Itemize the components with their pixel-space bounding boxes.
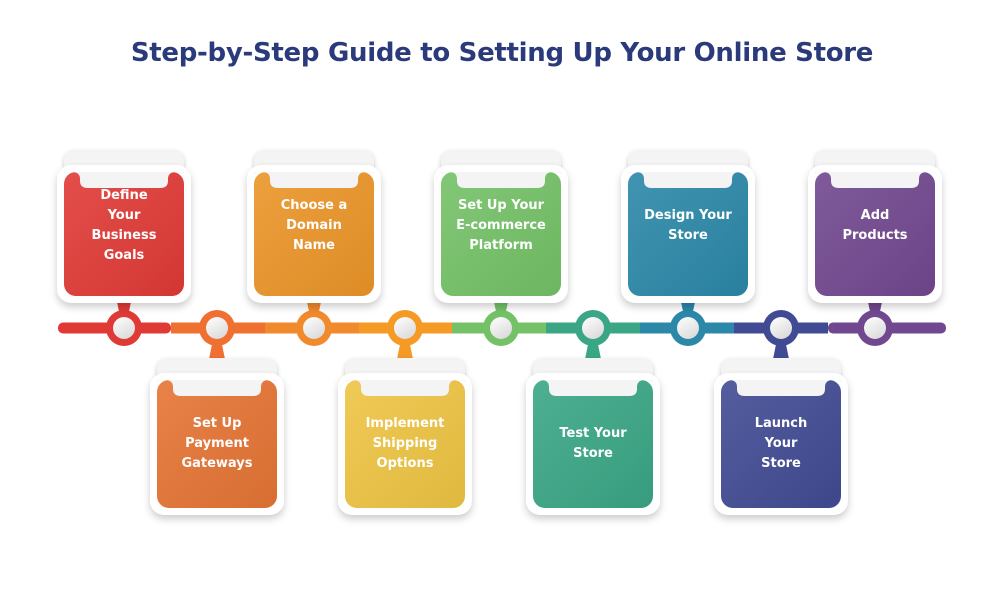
timeline-node-center[interactable] xyxy=(490,317,512,339)
step-card-label: Define Your Business Goals xyxy=(70,186,178,266)
timeline-node-ring[interactable] xyxy=(387,310,423,346)
timeline-node-center[interactable] xyxy=(864,317,886,339)
timeline-node-ring[interactable] xyxy=(763,310,799,346)
step-card-label: Design Your Store xyxy=(634,206,742,246)
timeline-segment xyxy=(265,323,359,334)
timeline-node-ring[interactable] xyxy=(670,310,706,346)
timeline-nodes xyxy=(106,310,893,346)
timeline-segment xyxy=(828,323,946,334)
timeline-node-center[interactable] xyxy=(770,317,792,339)
timeline-node-center[interactable] xyxy=(582,317,604,339)
timeline-segment xyxy=(640,323,734,334)
step-card-6[interactable]: 6Set Up Payment Gateways xyxy=(157,358,277,516)
timeline-node-ring[interactable] xyxy=(106,310,142,346)
timeline-segment xyxy=(452,323,546,334)
timeline-node-ring[interactable] xyxy=(296,310,332,346)
timeline-segments xyxy=(58,323,946,334)
step-card-label: Launch Your Store xyxy=(727,414,835,474)
timeline-node-center[interactable] xyxy=(394,317,416,339)
step-card-label: Set Up Your E-commerce Platform xyxy=(447,196,555,256)
timeline-segment xyxy=(546,323,640,334)
timeline-node-ring[interactable] xyxy=(857,310,893,346)
page-title: Step-by-Step Guide to Setting Up Your On… xyxy=(0,38,1004,68)
step-card-7[interactable]: 7Implement Shipping Options xyxy=(345,358,465,516)
step-card-4[interactable]: 4Design Your Store xyxy=(628,150,748,304)
step-card-label: Implement Shipping Options xyxy=(351,414,459,474)
step-card-5[interactable]: 5Add Products xyxy=(815,150,935,304)
timeline-segment xyxy=(58,323,171,334)
step-card-label: Test Your Store xyxy=(539,424,647,464)
step-card-label: Choose a Domain Name xyxy=(260,196,368,256)
timeline-node-center[interactable] xyxy=(113,317,135,339)
step-card-8[interactable]: 8Test Your Store xyxy=(533,358,653,516)
step-card-label: Add Products xyxy=(821,206,929,246)
timeline-node-center[interactable] xyxy=(206,317,228,339)
timeline-node-ring[interactable] xyxy=(199,310,235,346)
timeline-node-ring[interactable] xyxy=(483,310,519,346)
step-card-3[interactable]: 3Set Up Your E-commerce Platform xyxy=(441,150,561,304)
step-card-2[interactable]: 2Choose a Domain Name xyxy=(254,150,374,304)
timeline-segment xyxy=(171,323,265,334)
timeline-node-center[interactable] xyxy=(677,317,699,339)
step-card-1[interactable]: 1Define Your Business Goals xyxy=(64,150,184,304)
infographic-canvas: Step-by-Step Guide to Setting Up Your On… xyxy=(0,0,1004,591)
step-card-9[interactable]: 9Launch Your Store xyxy=(721,358,841,516)
timeline-segment xyxy=(734,323,828,334)
timeline-node-ring[interactable] xyxy=(575,310,611,346)
timeline-node-center[interactable] xyxy=(303,317,325,339)
timeline-segment xyxy=(359,323,452,334)
step-card-label: Set Up Payment Gateways xyxy=(163,414,271,474)
